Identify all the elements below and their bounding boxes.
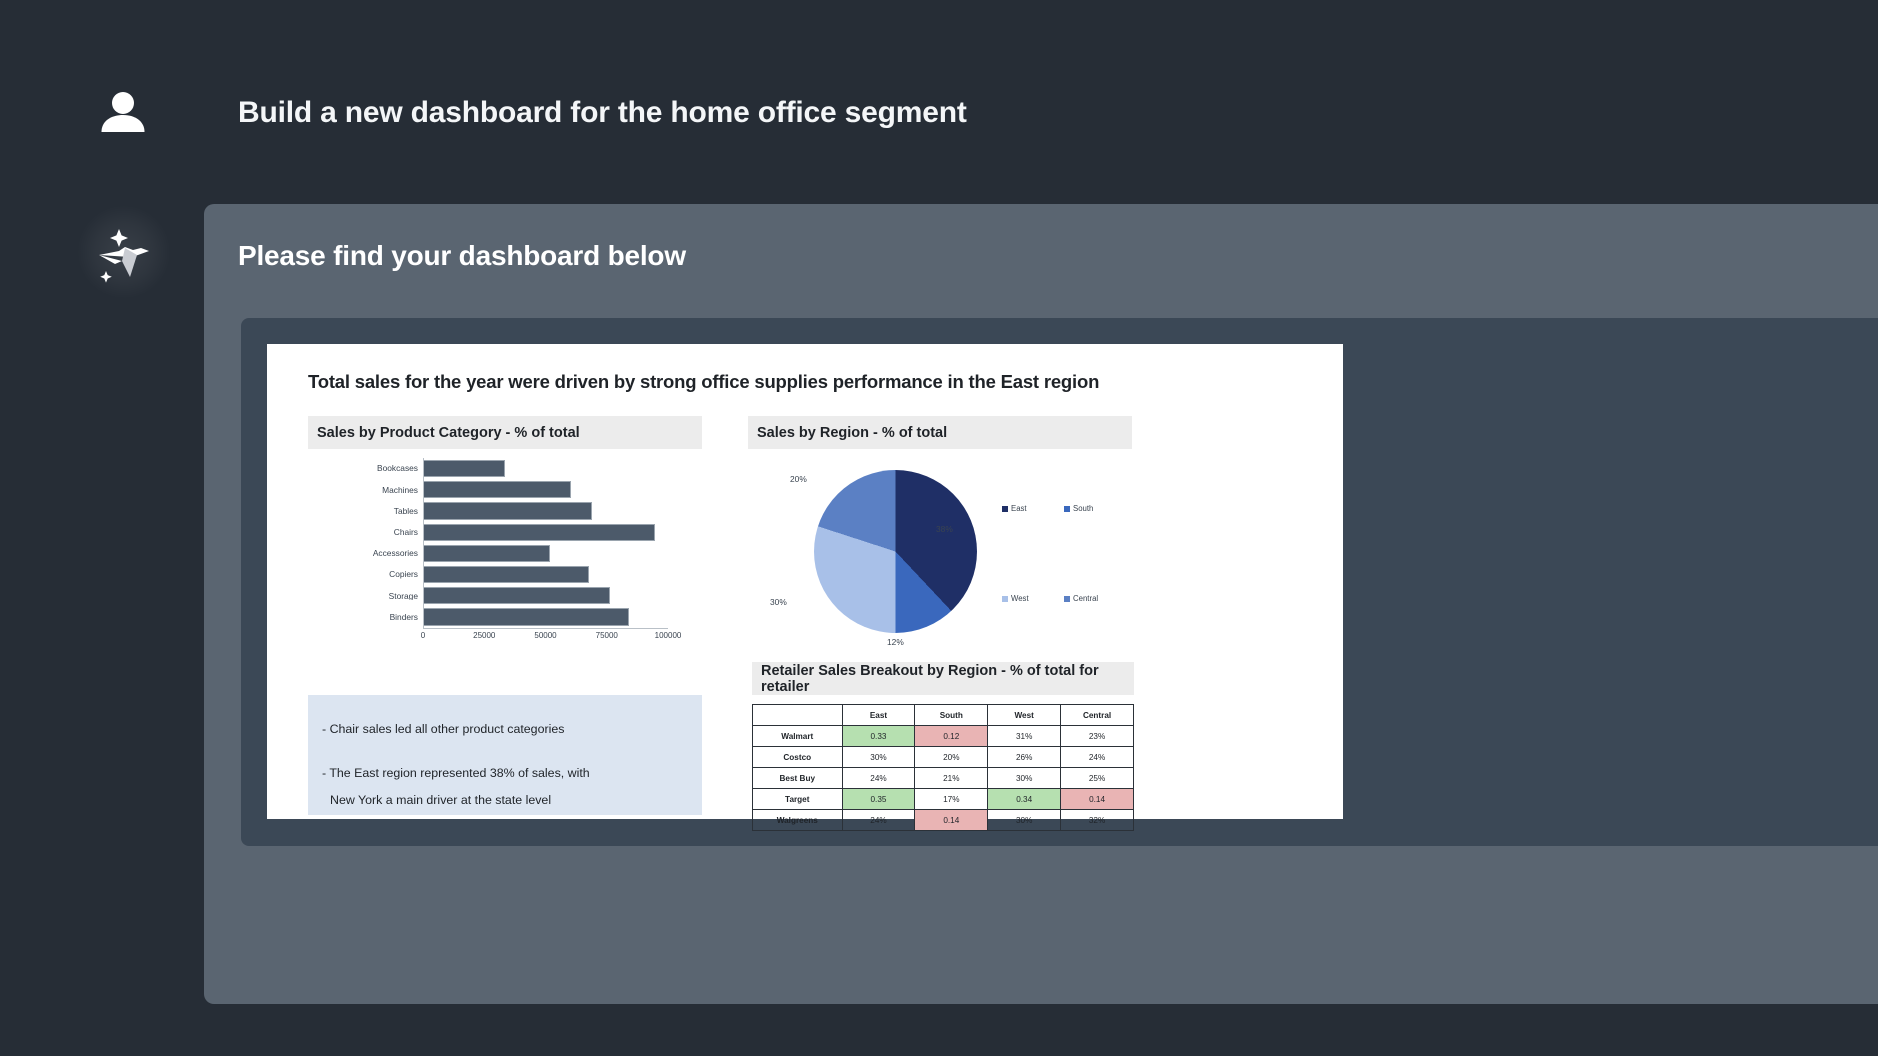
table-row[interactable]: Walgreens24%0.1430%32% bbox=[753, 810, 1134, 831]
conversation-rail bbox=[0, 0, 206, 1056]
pie-slice-value-label: 20% bbox=[790, 474, 807, 484]
table-cell: 25% bbox=[1061, 768, 1134, 789]
bar-row: Accessories bbox=[327, 543, 687, 564]
bar-category-label: Accessories bbox=[327, 549, 423, 557]
bar-x-tick-label: 0 bbox=[421, 631, 425, 640]
bar-category-label: Copiers bbox=[327, 570, 423, 578]
bar-x-tick-label: 25000 bbox=[473, 631, 495, 640]
bar-track bbox=[423, 564, 687, 585]
panel-title-retailer: Retailer Sales Breakout by Region - % of… bbox=[752, 662, 1134, 695]
category-bar-chart[interactable]: BookcasesMachinesTablesChairsAccessories… bbox=[327, 458, 687, 648]
table-row-header: Target bbox=[753, 789, 843, 810]
legend-label: Central bbox=[1073, 594, 1098, 603]
table-cell: 0.34 bbox=[988, 789, 1061, 810]
ai-assistant-avatar bbox=[78, 206, 170, 298]
table-column-header bbox=[753, 705, 843, 726]
bar-row: Bookcases bbox=[327, 458, 687, 479]
pie-slice-value-label: 38% bbox=[936, 524, 953, 534]
table-header-row: EastSouthWestCentral bbox=[753, 705, 1134, 726]
bar-track bbox=[423, 458, 687, 479]
bar-row: Chairs bbox=[327, 522, 687, 543]
ai-sparkle-bird-icon bbox=[89, 217, 159, 287]
bar-row: Tables bbox=[327, 500, 687, 521]
table-row-header: Costco bbox=[753, 747, 843, 768]
bar-row: Copiers bbox=[327, 564, 687, 585]
bar-track bbox=[423, 606, 687, 627]
table-cell: 17% bbox=[915, 789, 988, 810]
insight-line-3: New York a main driver at the state leve… bbox=[322, 794, 688, 808]
bar-fill[interactable] bbox=[423, 566, 589, 583]
table-cell: 26% bbox=[988, 747, 1061, 768]
table-row[interactable]: Costco30%20%26%24% bbox=[753, 747, 1134, 768]
bar-x-tick-label: 50000 bbox=[534, 631, 556, 640]
bar-track bbox=[423, 543, 687, 564]
table-cell: 24% bbox=[842, 768, 915, 789]
bar-category-label: Tables bbox=[327, 507, 423, 515]
table-row[interactable]: Walmart0.330.1231%23% bbox=[753, 726, 1134, 747]
legend-item[interactable]: South bbox=[1064, 504, 1093, 513]
bar-row: Binders bbox=[327, 606, 687, 627]
region-pie-chart[interactable]: 38%12%30%20% EastSouthWestCentral bbox=[748, 452, 1132, 652]
table-cell: 30% bbox=[842, 747, 915, 768]
bar-row: Storage bbox=[327, 585, 687, 606]
insight-callout: - Chair sales led all other product cate… bbox=[308, 695, 702, 815]
bar-fill[interactable] bbox=[423, 502, 592, 519]
panel-title-category: Sales by Product Category - % of total bbox=[308, 416, 702, 449]
legend-swatch bbox=[1064, 506, 1070, 512]
table-row[interactable]: Target0.3517%0.340.14 bbox=[753, 789, 1134, 810]
bar-category-label: Machines bbox=[327, 486, 423, 494]
table-cell: 0.14 bbox=[915, 810, 988, 831]
table-cell: 0.12 bbox=[915, 726, 988, 747]
panel-title-region: Sales by Region - % of total bbox=[748, 416, 1132, 449]
bar-fill[interactable] bbox=[423, 608, 629, 625]
insight-line-2-main: - The East region represented 38% of sal… bbox=[322, 766, 590, 780]
pie-disc bbox=[814, 470, 977, 633]
table-column-header: Central bbox=[1061, 705, 1134, 726]
bar-fill[interactable] bbox=[423, 587, 610, 604]
dashboard-canvas[interactable]: Total sales for the year were driven by … bbox=[267, 344, 1343, 819]
legend-swatch bbox=[1064, 596, 1070, 602]
legend-item[interactable]: East bbox=[1002, 504, 1027, 513]
pie-slice-value-label: 12% bbox=[887, 637, 904, 647]
table-column-header: West bbox=[988, 705, 1061, 726]
table-row[interactable]: Best Buy24%21%30%25% bbox=[753, 768, 1134, 789]
legend-label: South bbox=[1073, 504, 1093, 513]
bar-track bbox=[423, 522, 687, 543]
legend-swatch bbox=[1002, 596, 1008, 602]
table-cell: 30% bbox=[988, 768, 1061, 789]
dashboard-frame: Total sales for the year were driven by … bbox=[241, 318, 1878, 846]
table-row-header: Walmart bbox=[753, 726, 843, 747]
table-cell: 32% bbox=[1061, 810, 1134, 831]
table-cell: 0.33 bbox=[842, 726, 915, 747]
bar-category-label: Storage bbox=[327, 592, 423, 600]
bar-category-label: Chairs bbox=[327, 528, 423, 536]
dashboard-headline: Total sales for the year were driven by … bbox=[308, 371, 1308, 393]
bar-chart-baseline bbox=[423, 628, 668, 629]
assistant-response-panel: Please find your dashboard below Total s… bbox=[204, 204, 1878, 1004]
table-cell: 24% bbox=[842, 810, 915, 831]
assistant-reply-text: Please find your dashboard below bbox=[238, 240, 686, 272]
bar-fill[interactable] bbox=[423, 524, 655, 541]
table-cell: 24% bbox=[1061, 747, 1134, 768]
legend-label: West bbox=[1011, 594, 1029, 603]
bar-track bbox=[423, 479, 687, 500]
retailer-table: EastSouthWestCentral Walmart0.330.1231%2… bbox=[752, 704, 1134, 831]
bar-chart-axis-line bbox=[423, 458, 424, 628]
table-cell: 31% bbox=[988, 726, 1061, 747]
pie-legend: EastSouthWestCentral bbox=[1002, 452, 1132, 652]
table-row-header: Walgreens bbox=[753, 810, 843, 831]
table-row-header: Best Buy bbox=[753, 768, 843, 789]
bar-category-label: Bookcases bbox=[327, 464, 423, 472]
bar-x-tick-label: 75000 bbox=[596, 631, 618, 640]
user-prompt-text: Build a new dashboard for the home offic… bbox=[238, 96, 967, 130]
legend-swatch bbox=[1002, 506, 1008, 512]
table-column-header: South bbox=[915, 705, 988, 726]
bar-track bbox=[423, 585, 687, 606]
bar-track bbox=[423, 500, 687, 521]
table-cell: 20% bbox=[915, 747, 988, 768]
table-cell: 21% bbox=[915, 768, 988, 789]
bar-row: Machines bbox=[327, 479, 687, 500]
bar-x-tick-label: 100000 bbox=[655, 631, 682, 640]
bar-category-label: Binders bbox=[327, 613, 423, 621]
table-cell: 0.35 bbox=[842, 789, 915, 810]
legend-label: East bbox=[1011, 504, 1027, 513]
bar-fill[interactable] bbox=[423, 460, 505, 477]
legend-item[interactable]: West bbox=[1002, 594, 1029, 603]
legend-item[interactable]: Central bbox=[1064, 594, 1098, 603]
table-cell: 30% bbox=[988, 810, 1061, 831]
table-cell: 0.14 bbox=[1061, 789, 1134, 810]
app-root: Build a new dashboard for the home offic… bbox=[0, 0, 1878, 1056]
retailer-table-wrap[interactable]: EastSouthWestCentral Walmart0.330.1231%2… bbox=[752, 704, 1134, 809]
table-cell: 23% bbox=[1061, 726, 1134, 747]
table-column-header: East bbox=[842, 705, 915, 726]
pie-slice-value-label: 30% bbox=[770, 597, 787, 607]
insight-line-1: - Chair sales led all other product cate… bbox=[322, 723, 688, 737]
bar-chart-x-ticks: 0250005000075000100000 bbox=[423, 631, 668, 647]
bar-fill[interactable] bbox=[423, 481, 571, 498]
user-avatar-icon bbox=[95, 86, 151, 142]
bar-fill[interactable] bbox=[423, 545, 550, 562]
insight-line-2: - The East region represented 38% of sal… bbox=[322, 767, 688, 808]
